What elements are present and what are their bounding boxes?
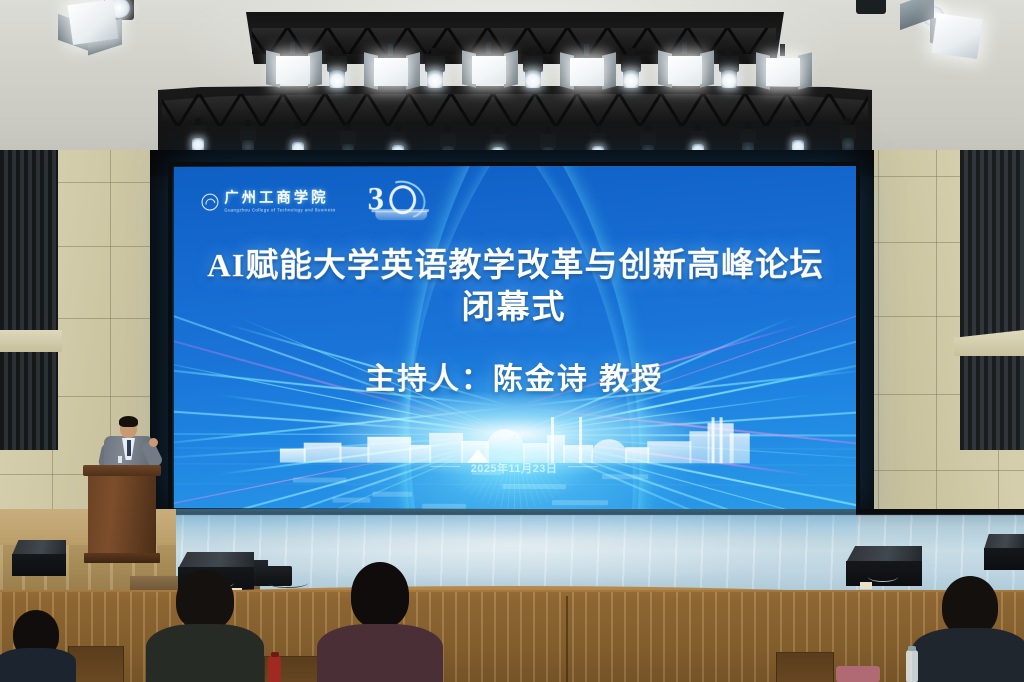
light-head-icon (525, 70, 541, 88)
forum-title-line2: 闭幕式 (174, 280, 858, 328)
anniversary-30-icon: 3 (366, 182, 440, 222)
fresnel-lens-icon (276, 56, 310, 84)
corner-light-cluster-right (834, 0, 1004, 70)
stage-fresnel-light (268, 50, 320, 90)
barndoor-right (406, 52, 420, 89)
cable (268, 578, 308, 588)
university-name-cn: 广州工商学院 (224, 192, 335, 207)
audience-shoulders (0, 648, 76, 682)
audience-member (916, 574, 1024, 682)
apron-seam (566, 596, 568, 682)
podium (88, 465, 156, 565)
spotlight-body (856, 0, 886, 14)
stage-fresnel-light (464, 50, 516, 90)
bottle-cap (271, 652, 279, 657)
acoustic-slat-panel-right (960, 150, 1024, 450)
audience-member (150, 570, 260, 682)
presenter-badge (118, 456, 122, 463)
audience-member (320, 562, 440, 682)
cable-tag (860, 582, 872, 589)
apron-vent (68, 646, 124, 682)
light-head-icon (623, 70, 639, 88)
fresnel-lens-icon (766, 58, 800, 86)
barndoor-flap (900, 0, 934, 30)
barndoor-right (798, 52, 812, 89)
drink-bottle (268, 656, 281, 682)
light-head-icon (721, 70, 737, 88)
moving-head-light (718, 48, 740, 96)
audience-head (942, 576, 998, 636)
moving-head-light (326, 48, 348, 96)
light-yoke (290, 42, 295, 54)
cable (868, 572, 898, 582)
light-head-icon (329, 70, 345, 88)
led-backdrop-screen: 广州工商学院 Guangzhou College of Technology a… (174, 165, 858, 510)
light-yoke (486, 42, 491, 54)
fresnel-lens-icon (570, 58, 604, 86)
audience-member (0, 596, 72, 682)
presenter-hand (149, 438, 158, 447)
audience-head (351, 562, 409, 628)
presenter-hair (119, 416, 138, 427)
screen-logo-row: 广州工商学院 Guangzhou College of Technology a… (202, 182, 440, 222)
fresnel-lens-icon (472, 56, 506, 84)
stage-monitor (984, 534, 1024, 570)
podium-body (88, 475, 156, 555)
audience-shoulders (317, 624, 443, 682)
event-date: 2025年11月23日 (174, 459, 858, 476)
podium-base (84, 553, 160, 563)
stage-fresnel-light (366, 52, 418, 92)
apron-vent (776, 652, 834, 682)
corner-light-cluster-left (44, 0, 214, 74)
university-name-block: 广州工商学院 Guangzhou College of Technology a… (224, 192, 335, 213)
barndoor-right (602, 52, 616, 89)
monitor-grille (12, 554, 66, 576)
wall-ledge-left (0, 330, 62, 352)
fresnel-lens-icon (668, 56, 702, 84)
light-head-icon (427, 70, 443, 88)
university-name-en: Guangzhou College of Technology and Busi… (224, 209, 335, 213)
moving-head-light (522, 48, 544, 96)
light-yoke (780, 44, 785, 56)
audience-shoulders (912, 628, 1024, 682)
audience-head (176, 570, 234, 630)
anniversary-base (376, 211, 428, 220)
stage-monitor (846, 546, 922, 586)
presenter-tie (127, 440, 131, 456)
acoustic-slat-panel-left (0, 150, 58, 450)
fresnel-lens-icon (67, 0, 118, 45)
host-line: 主持人：陈金诗 教授 (174, 354, 858, 398)
stage-monitor (12, 540, 66, 576)
moving-head-light (620, 48, 642, 96)
fresnel-lens-icon (374, 58, 408, 86)
stage-fresnel-light (758, 52, 810, 92)
barndoor-right (504, 50, 518, 87)
light-yoke (682, 42, 687, 54)
university-logo: 广州工商学院 Guangzhou College of Technology a… (202, 192, 336, 213)
podium-top (83, 465, 161, 476)
moving-head-light (424, 48, 446, 96)
spiral-emblem-icon (202, 194, 219, 211)
stage-fresnel-light (660, 50, 712, 90)
light-yoke (388, 44, 393, 56)
auditorium-stage-photo: 广州工商学院 Guangzhou College of Technology a… (0, 0, 1024, 682)
bottle-cap (908, 646, 916, 651)
fresnel-lens-icon (931, 13, 982, 59)
drink-bottle (906, 650, 918, 682)
seat-back (836, 666, 880, 682)
monitor-grille (984, 548, 1024, 570)
lower-truss-bracing (162, 94, 868, 126)
stage-fresnel-light (562, 52, 614, 92)
screen-content: 广州工商学院 Guangzhou College of Technology a… (174, 165, 858, 510)
barndoor-right (308, 50, 322, 87)
light-yoke (584, 44, 589, 56)
barndoor-right (700, 50, 714, 87)
audience-shoulders (146, 624, 264, 682)
